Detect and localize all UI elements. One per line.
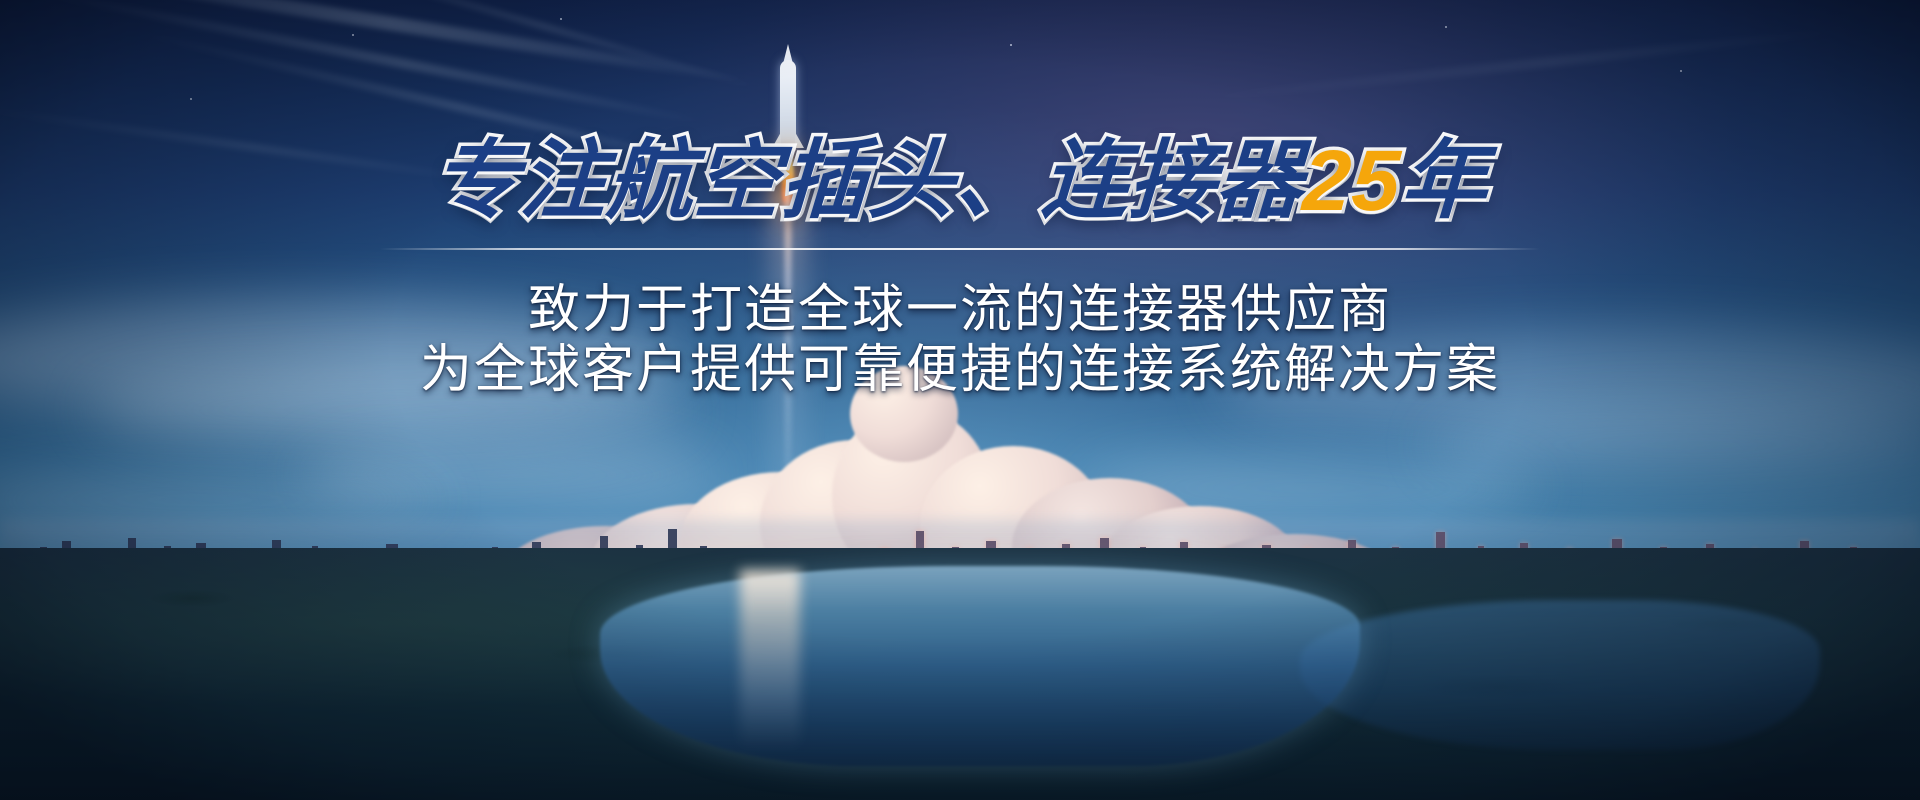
headline-divider (380, 248, 1540, 250)
subtitle-line-2: 为全球客户提供可靠便捷的连接系统解决方案 (420, 340, 1500, 400)
hero-banner: 专注航空插头、连接器25年 致力于打造全球一流的连接器供应商 为全球客户提供可靠… (0, 0, 1920, 800)
banner-subtitle: 致力于打造全球一流的连接器供应商 为全球客户提供可靠便捷的连接系统解决方案 (420, 280, 1500, 401)
banner-headline: 专注航空插头、连接器25年 (430, 138, 1489, 226)
headline-part2: 年 (1398, 133, 1490, 229)
headline-part1: 专注航空插头、连接器 (430, 133, 1305, 229)
subtitle-line-1: 致力于打造全球一流的连接器供应商 (420, 280, 1500, 340)
headline-years-number: 25 (1300, 133, 1403, 229)
banner-content: 专注航空插头、连接器25年 致力于打造全球一流的连接器供应商 为全球客户提供可靠… (0, 0, 1920, 800)
